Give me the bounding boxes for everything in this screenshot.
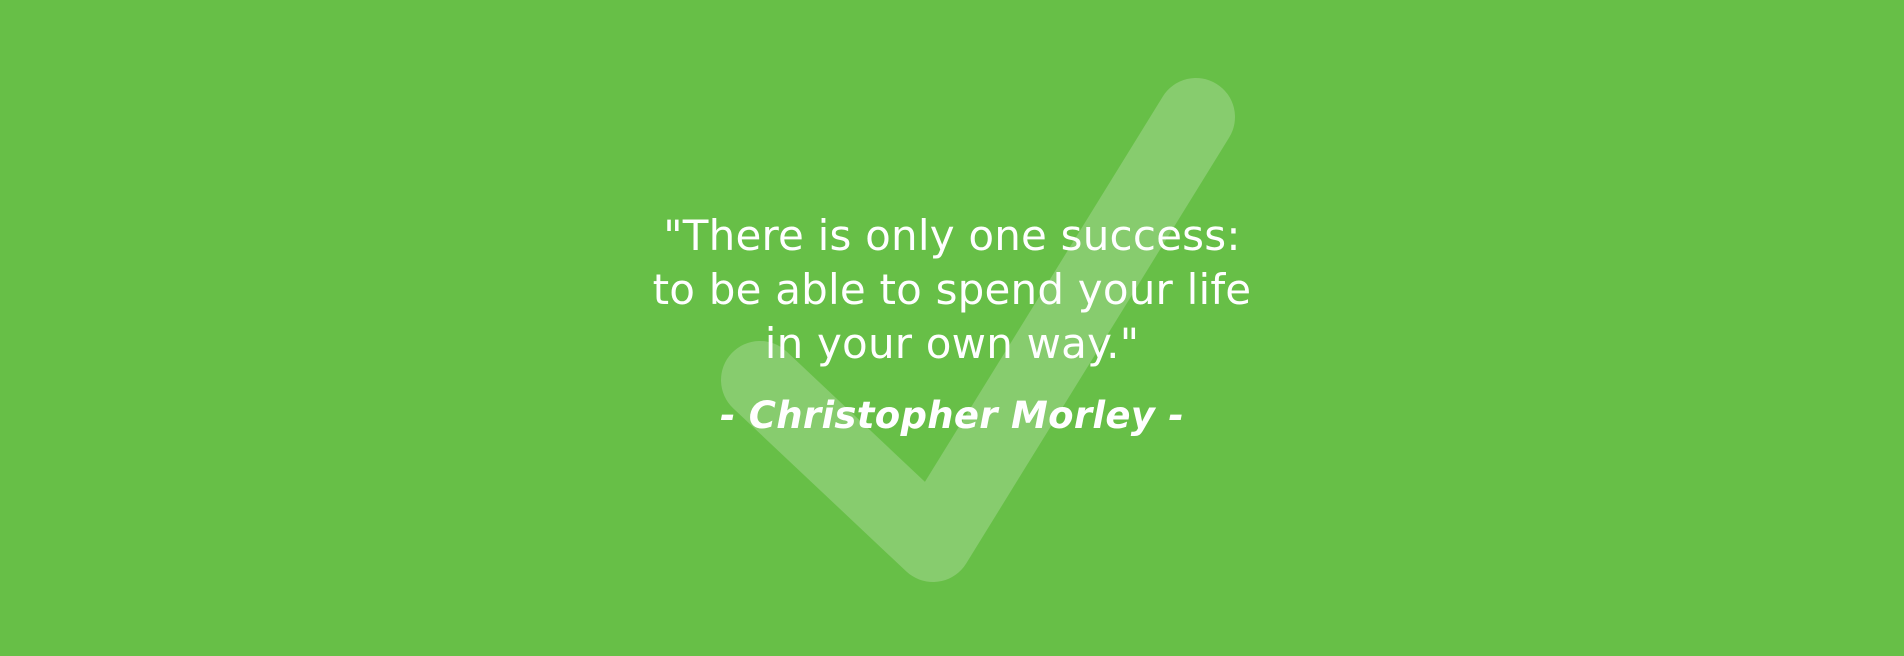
quote-line-2: to be able to spend your life bbox=[653, 263, 1252, 317]
quote-line-3: in your own way." bbox=[765, 317, 1139, 371]
quote-line-1: "There is only one success: bbox=[663, 209, 1240, 263]
quote-attribution: - Christopher Morley - bbox=[720, 394, 1184, 438]
quote-text-block: "There is only one success: to be able t… bbox=[0, 0, 1904, 656]
quote-banner: "There is only one success: to be able t… bbox=[0, 0, 1904, 656]
quote-lines: "There is only one success: to be able t… bbox=[653, 209, 1252, 371]
